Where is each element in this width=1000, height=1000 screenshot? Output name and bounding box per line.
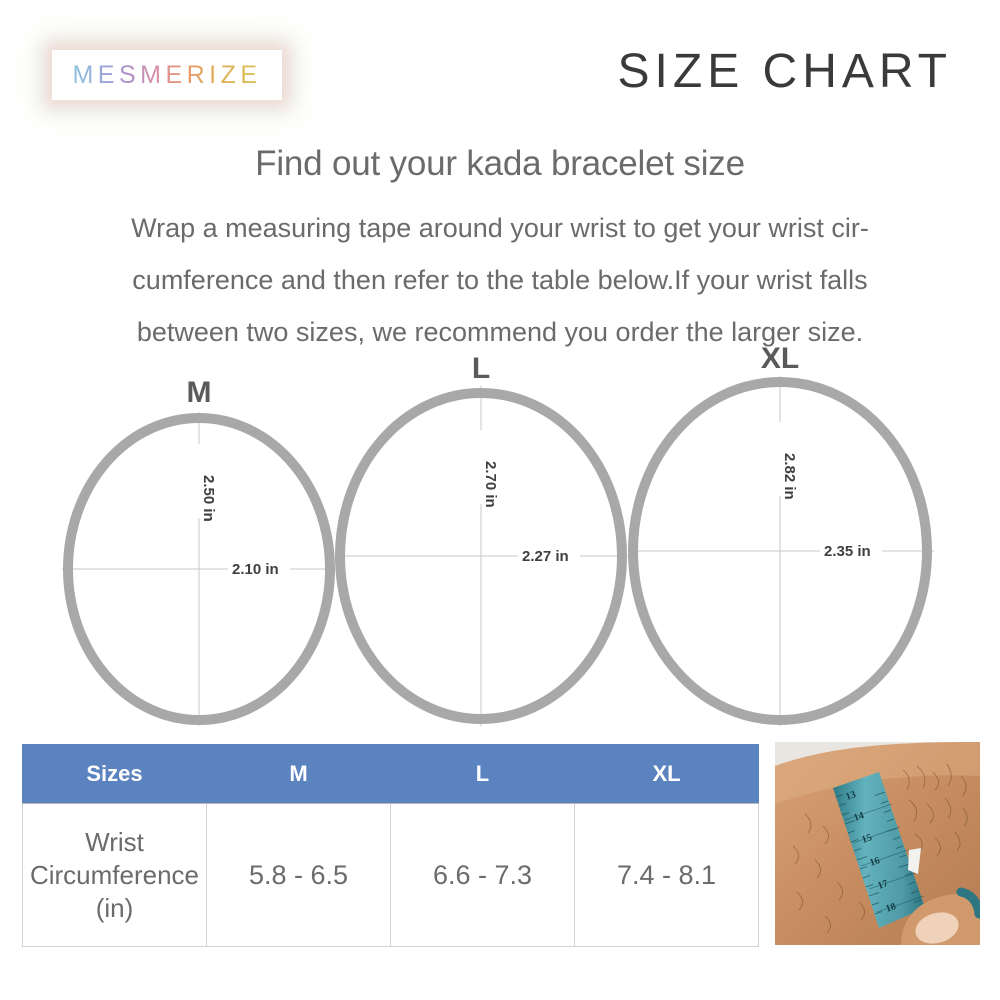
- intro-line-1: Wrap a measuring tape around your wrist …: [0, 202, 1000, 254]
- header-m: M: [207, 745, 391, 804]
- cell-xl-range: 7.4 - 8.1: [575, 804, 759, 947]
- oval-l-size-label: L: [472, 352, 490, 385]
- header-xl: XL: [575, 745, 759, 804]
- oval-m-height-label-text: 2.50 in: [200, 475, 217, 522]
- size-table-body: Wrist Circumference (in) 5.8 - 6.5 6.6 -…: [23, 804, 759, 947]
- oval-diagram-svg: M 2.50 in 2.10 in 2.50 in 2.10 in L 2.70…: [0, 340, 1000, 740]
- cell-l-range: 6.6 - 7.3: [391, 804, 575, 947]
- header-sizes: Sizes: [23, 745, 207, 804]
- table-row: Wrist Circumference (in) 5.8 - 6.5 6.6 -…: [23, 804, 759, 947]
- size-table: Sizes M L XL Wrist Circumference (in) 5.…: [22, 744, 759, 947]
- row-label-line-1: Wrist: [24, 826, 205, 859]
- row-label-wrist-circumference: Wrist Circumference (in): [23, 804, 207, 947]
- intro-section: Find out your kada bracelet size Wrap a …: [0, 140, 1000, 358]
- oval-l-height-label: 2.70 in: [482, 461, 499, 508]
- row-label-line-3: (in): [24, 892, 205, 925]
- row-label-line-2: Circumference: [24, 859, 205, 892]
- photo-content: 13 14 15 16 17 18: [775, 742, 980, 945]
- brand-wordmark: MESMERIZE: [72, 61, 261, 90]
- intro-subtitle: Find out your kada bracelet size: [0, 140, 1000, 188]
- oval-m-size-label: M: [187, 376, 212, 409]
- page-title: SIZE CHART: [618, 44, 952, 99]
- oval-xl-width-label: 2.35 in: [824, 543, 871, 560]
- header-l: L: [391, 745, 575, 804]
- intro-line-2: cumference and then refer to the table b…: [0, 254, 1000, 306]
- size-table-head: Sizes M L XL: [23, 745, 759, 804]
- page-header: MESMERIZE SIZE CHART: [0, 0, 1000, 130]
- wrist-measuring-photo: 13 14 15 16 17 18: [775, 742, 980, 945]
- brand-logo: MESMERIZE: [52, 50, 282, 100]
- oval-xl-height-label: 2.82 in: [781, 453, 798, 500]
- oval-group-l: L 2.70 in 2.27 in: [336, 352, 630, 726]
- table-header-row: Sizes M L XL: [23, 745, 759, 804]
- oval-xl-size-label: XL: [761, 342, 799, 375]
- oval-diagram: M 2.50 in 2.10 in 2.50 in 2.10 in L 2.70…: [0, 340, 1000, 740]
- oval-group-xl: XL 2.82 in 2.35 in: [630, 342, 934, 726]
- wrist-photo-illustration: 13 14 15 16 17 18: [775, 742, 980, 945]
- cell-m-range: 5.8 - 6.5: [207, 804, 391, 947]
- oval-l-width-label: 2.27 in: [522, 548, 569, 565]
- oval-m-width-label-text: 2.10 in: [232, 561, 279, 578]
- oval-group-m: M 2.50 in 2.10 in 2.50 in 2.10 in: [62, 376, 336, 726]
- intro-paragraph: Wrap a measuring tape around your wrist …: [0, 202, 1000, 358]
